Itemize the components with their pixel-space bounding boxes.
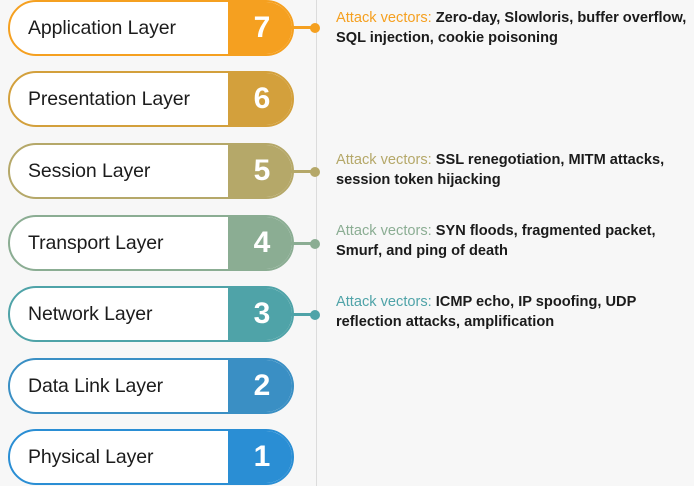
layer-row-1[interactable]: Physical Layer 1 [8,429,294,485]
layer-number-1: 1 [230,429,294,485]
layer-label-5: Session Layer [28,143,150,199]
annotation-label-7: Attack vectors: [336,10,432,26]
layer-number-3: 3 [230,286,294,342]
connector-dot-5 [310,167,320,177]
layer-row-7[interactable]: Application Layer 7 [8,0,294,56]
layer-row-5[interactable]: Session Layer 5 [8,143,294,199]
annotation-7: Attack vectors: Zero-day, Slowloris, buf… [336,8,688,48]
annotation-label-3: Attack vectors: [336,294,432,310]
layer-label-1: Physical Layer [28,429,153,485]
layer-row-2[interactable]: Data Link Layer 2 [8,358,294,414]
layer-label-2: Data Link Layer [28,358,163,414]
layer-row-6[interactable]: Presentation Layer 6 [8,71,294,127]
layer-row-4[interactable]: Transport Layer 4 [8,215,294,271]
layer-number-5: 5 [230,143,294,199]
layer-label-6: Presentation Layer [28,71,190,127]
layer-label-4: Transport Layer [28,215,163,271]
annotation-5: Attack vectors: SSL renegotiation, MITM … [336,150,688,190]
layer-label-3: Network Layer [28,286,152,342]
annotation-label-4: Attack vectors: [336,223,432,239]
layer-number-6: 6 [230,71,294,127]
layer-number-2: 2 [230,358,294,414]
connector-dot-7 [310,23,320,33]
layer-label-7: Application Layer [28,0,176,56]
connector-dot-4 [310,239,320,249]
osi-layer-diagram: Application Layer 7 Attack vectors: Zero… [0,0,694,486]
annotation-label-5: Attack vectors: [336,152,432,168]
layer-row-3[interactable]: Network Layer 3 [8,286,294,342]
layer-number-7: 7 [230,0,294,56]
connector-dot-3 [310,310,320,320]
layer-number-4: 4 [230,215,294,271]
annotation-3: Attack vectors: ICMP echo, IP spoofing, … [336,292,688,332]
annotation-4: Attack vectors: SYN floods, fragmented p… [336,221,688,261]
